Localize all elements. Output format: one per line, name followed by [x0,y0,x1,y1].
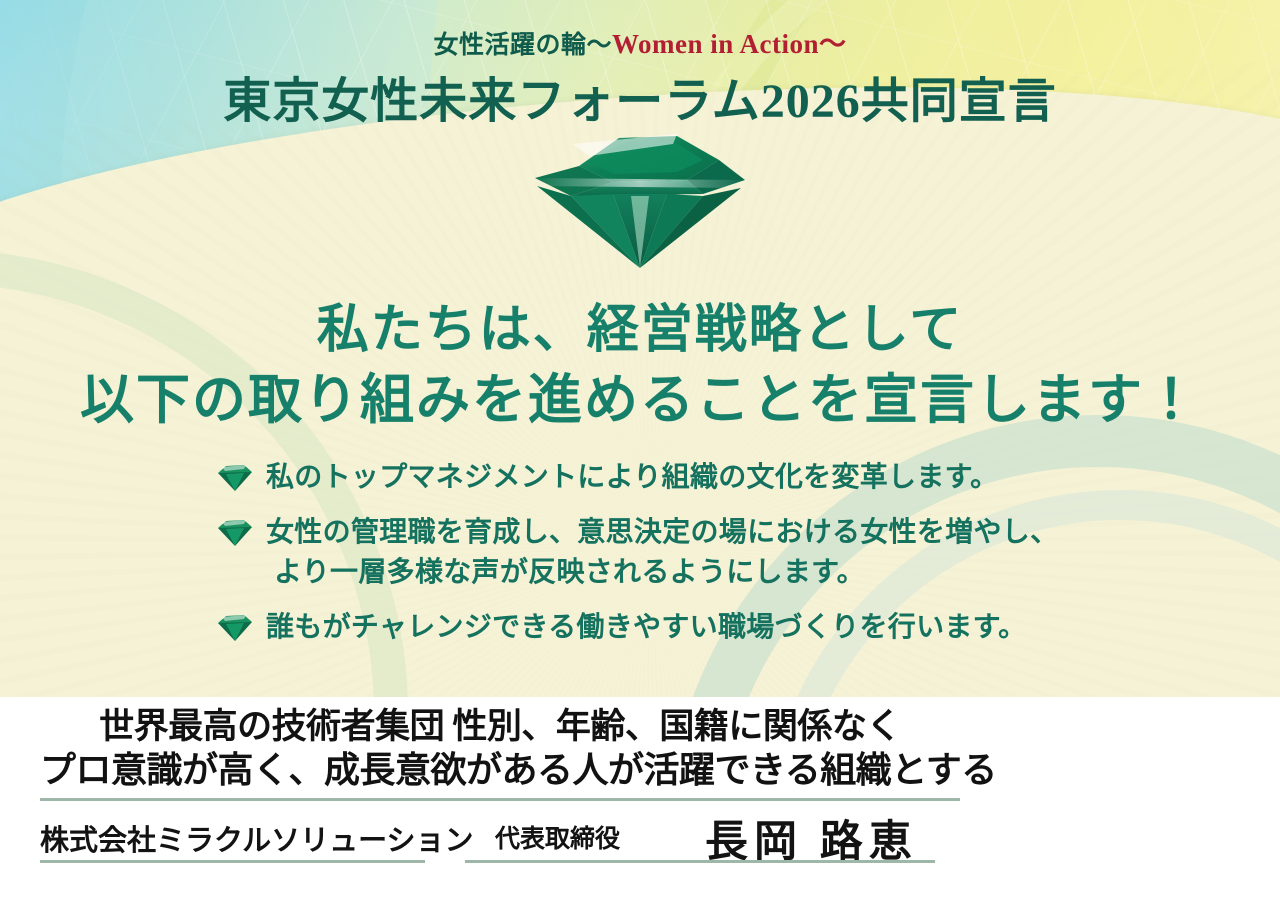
slogan-divider [40,798,960,801]
emerald-gem-icon [527,122,753,274]
company-name-underline [40,860,425,863]
pledge-list: 私のトップマネジメントにより組織の文化を変革します。 女性の管理職を育成し、意思… [214,458,1094,662]
company-slogan: 世界最高の技術者集団 性別、年齢、国籍に関係なく プロ意識が高く、成長意欲がある… [40,706,960,793]
header-kicker-jp: 女性活躍の輪～ [433,32,612,59]
declaration-poster: 女性活躍の輪～Women in Action～ 東京女性未来フォーラム2026共… [0,0,1280,906]
pledge-line-1: 誰もがチャレンジできる働きやすい職場づくりを行います。 [266,612,1026,643]
pledge-item: 私のトップマネジメントにより組織の文化を変革します。 [214,458,1094,499]
signature-row: 株式会社ミラクルソリューション 代表取締役 長岡 路恵 [40,809,960,859]
emerald-gem-bullet-icon [214,518,256,548]
emerald-gem-bullet-icon [214,613,256,643]
pledge-text: 誰もがチャレンジできる働きやすい職場づくりを行います。 [266,608,1026,649]
signature-underline [465,860,935,863]
company-slogan-line-1: 世界最高の技術者集団 性別、年齢、国籍に関係なく [40,706,960,749]
header-kicker: 女性活躍の輪～Women in Action～ [0,22,1280,61]
pledge-line-1: 私のトップマネジメントにより組織の文化を変革します。 [266,462,998,493]
pledge-line-2: より一層多様な声が反映されるようにします。 [266,553,1058,594]
pledge-item: 女性の管理職を育成し、意思決定の場における女性を増やし、 より一層多様な声が反映… [214,513,1094,594]
representative-role: 代表取締役 [495,819,620,855]
pledge-text: 女性の管理職を育成し、意思決定の場における女性を増やし、 より一層多様な声が反映… [266,513,1058,594]
pledge-line-1: 女性の管理職を育成し、意思決定の場における女性を増やし、 [266,517,1058,548]
declaration-line-1: 私たちは、経営戦略として [0,296,1280,365]
page-title: 東京女性未来フォーラム2026共同宣言 [0,61,1280,131]
footer-signature-block: 世界最高の技術者集団 性別、年齢、国籍に関係なく プロ意識が高く、成長意欲がある… [0,697,1280,906]
header-kicker-en: Women in Action～ [612,29,847,59]
pledge-text: 私のトップマネジメントにより組織の文化を変革します。 [266,458,998,499]
company-slogan-line-2: プロ意識が高く、成長意欲がある人が活躍できる組織とする [40,749,960,793]
pledge-item: 誰もがチャレンジできる働きやすい職場づくりを行います。 [214,608,1094,649]
emerald-gem-bullet-icon [214,463,256,493]
company-name: 株式会社ミラクルソリューション [40,817,474,859]
declaration-text: 私たちは、経営戦略として 以下の取り組みを進めることを宣言します！ [0,296,1280,437]
declaration-line-2: 以下の取り組みを進めることを宣言します！ [0,365,1280,437]
